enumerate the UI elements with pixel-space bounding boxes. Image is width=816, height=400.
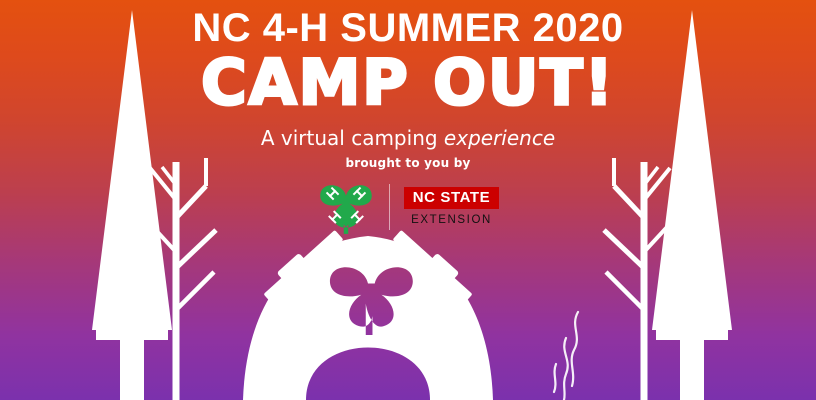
tagline-prefix: A virtual camping	[261, 126, 444, 150]
nc-state-unit-label: EXTENSION	[411, 215, 492, 227]
logo-row: NC STATE EXTENSION	[0, 179, 816, 235]
tagline-emphasis: experience	[444, 126, 555, 150]
nc-state-wordmark: NC STATE	[404, 187, 500, 209]
text-block: NC 4-H SUMMER 2020 CAMP OUT! A virtual c…	[0, 0, 816, 235]
poster-title-line2: CAMP OUT!	[0, 52, 816, 114]
poster-title-line1: NC 4-H SUMMER 2020	[0, 8, 816, 48]
four-h-clover-icon	[317, 179, 375, 235]
camp-out-poster: NC 4-H SUMMER 2020 CAMP OUT! A virtual c…	[0, 0, 816, 400]
poster-tagline: A virtual camping experience	[0, 128, 816, 148]
nc-state-extension-logo: NC STATE EXTENSION	[404, 187, 500, 227]
logo-divider	[389, 184, 390, 230]
brought-to-you-by-label: brought to you by	[0, 157, 816, 169]
